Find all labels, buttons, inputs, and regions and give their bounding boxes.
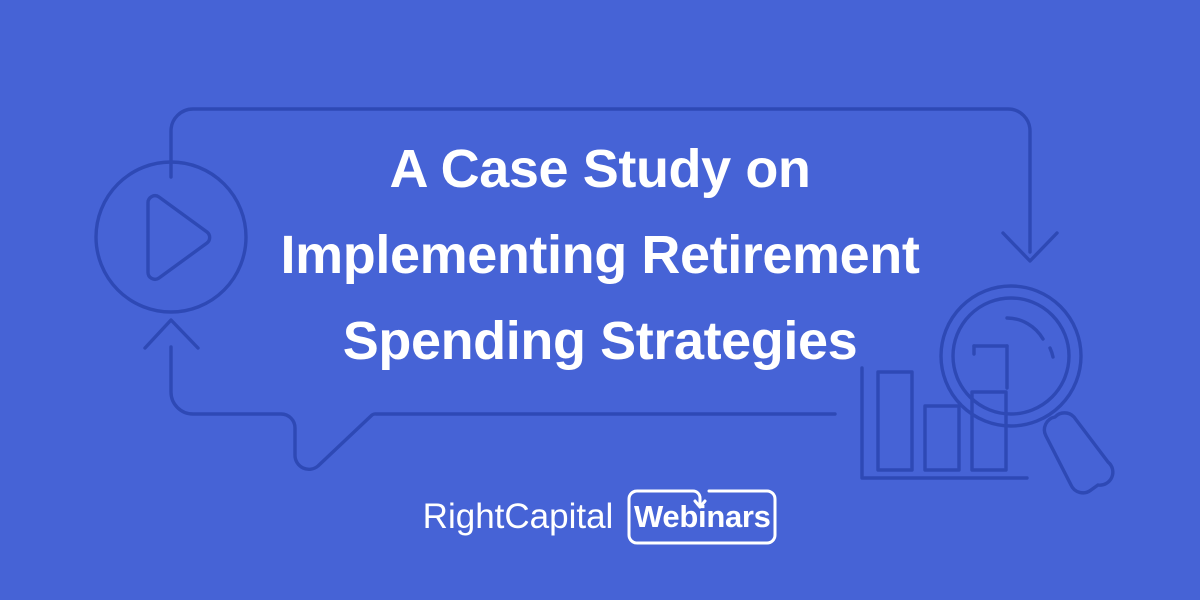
magnifier-handle	[1044, 413, 1112, 493]
speech-bubble-outline	[171, 109, 1030, 469]
brand-wordmark: RightCapital	[423, 497, 614, 537]
webinars-label: Webinars	[627, 489, 777, 545]
magnifier-glare-long	[1007, 318, 1043, 339]
bar-chart-icon	[862, 368, 1027, 478]
magnifying-glass-icon	[941, 286, 1113, 493]
arrow-up-icon	[145, 320, 198, 348]
webinar-title-slide: A Case Study on Implementing Retirement …	[0, 0, 1200, 600]
magnifier-rim	[941, 286, 1081, 426]
magnifier-glare-short	[1050, 348, 1053, 357]
webinars-badge: Webinars	[627, 489, 777, 545]
chart-bar-2	[925, 406, 959, 470]
logo-lockup: RightCapital Webinars	[0, 489, 1200, 545]
chart-axis	[862, 368, 1027, 478]
chart-bar-1	[878, 372, 912, 470]
play-circle-icon	[96, 162, 246, 312]
